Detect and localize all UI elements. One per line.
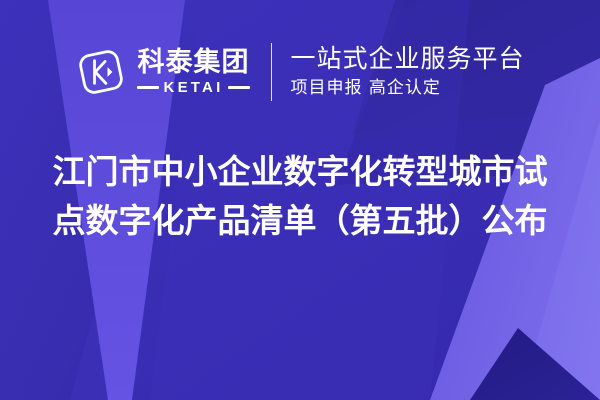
tagline-sub: 项目申报 高企认定 xyxy=(290,77,524,99)
banner-header: 科泰集团 KETAI 一站式企业服务平台 项目申报 高企认定 xyxy=(0,38,600,106)
ketai-logo-icon xyxy=(75,46,127,98)
logo-wordmark: 科泰集团 KETAI xyxy=(137,49,249,94)
headline-line-1: 江门市中小企业数字化转型城市试 xyxy=(0,148,600,197)
logo-en-row: KETAI xyxy=(137,80,249,95)
page-title: 江门市中小企业数字化转型城市试 点数字化产品清单（第五批）公布 xyxy=(0,148,600,246)
logo-dash-left xyxy=(137,86,158,89)
tagline: 一站式企业服务平台 项目申报 高企认定 xyxy=(290,45,524,99)
logo-company-en: KETAI xyxy=(164,80,224,95)
banner-content: 科泰集团 KETAI 一站式企业服务平台 项目申报 高企认定 江门市中小企业数字… xyxy=(0,0,600,400)
logo-company-cn: 科泰集团 xyxy=(137,49,249,77)
logo-dash-right xyxy=(228,86,249,89)
promo-banner: 科泰集团 KETAI 一站式企业服务平台 项目申报 高企认定 江门市中小企业数字… xyxy=(0,0,600,400)
header-divider xyxy=(271,43,272,101)
brand-logo: 科泰集团 KETAI xyxy=(75,46,249,98)
tagline-main: 一站式企业服务平台 xyxy=(290,45,524,74)
headline-line-2: 点数字化产品清单（第五批）公布 xyxy=(0,197,600,246)
